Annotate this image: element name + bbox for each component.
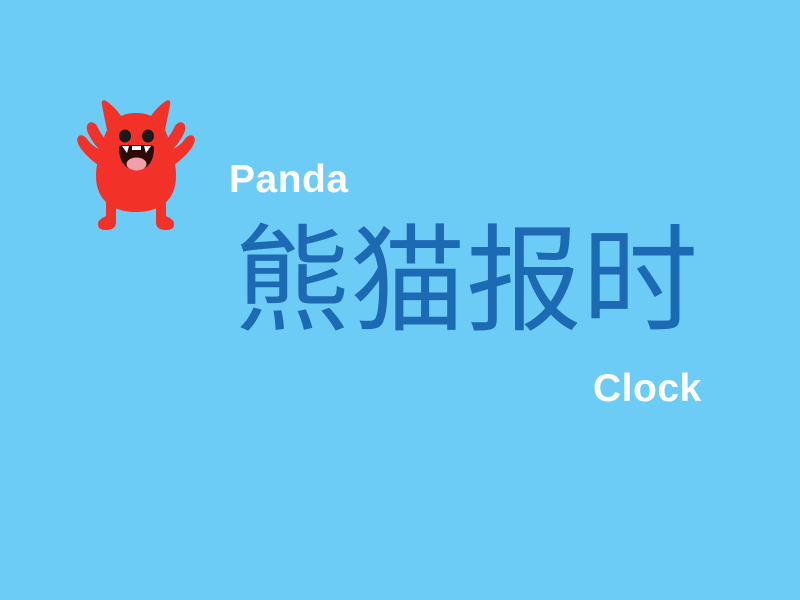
- label-panda: Panda: [229, 160, 349, 199]
- red-monster-mascot-icon: [72, 92, 200, 240]
- page-title: 熊猫报时: [234, 222, 698, 340]
- mascot-head: [101, 100, 171, 184]
- splash-screen: Panda 熊猫报时 Clock: [0, 0, 800, 600]
- label-clock: Clock: [593, 369, 702, 408]
